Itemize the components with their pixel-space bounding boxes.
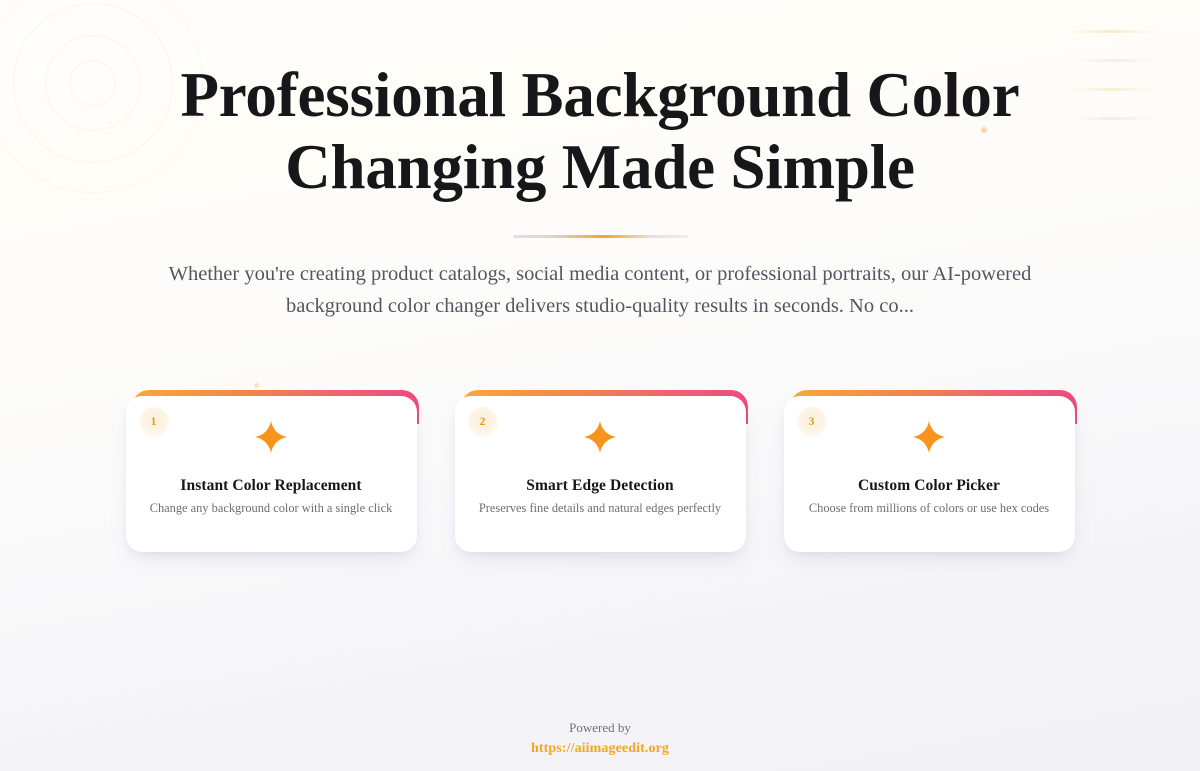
- card-surface: 3 Custom Color Picker Choose from millio…: [784, 396, 1075, 552]
- page-subtitle: Whether you're creating product catalogs…: [120, 258, 1080, 323]
- card-title: Instant Color Replacement: [126, 477, 417, 495]
- card-description: Choose from millions of colors or use he…: [798, 500, 1061, 517]
- powered-by-link[interactable]: https://aiimageedit.org: [531, 741, 669, 757]
- card-description: Preserves fine details and natural edges…: [469, 500, 732, 517]
- title-divider: [513, 235, 688, 238]
- footer: Powered by https://aiimageedit.org: [0, 718, 1200, 758]
- hero-page: Professional Background Color Changing M…: [0, 0, 1200, 771]
- sparkle-icon: [126, 420, 417, 454]
- card-title: Smart Edge Detection: [455, 477, 746, 495]
- feature-card[interactable]: 3 Custom Color Picker Choose from millio…: [784, 390, 1075, 552]
- powered-by-label: Powered by: [0, 718, 1200, 738]
- feature-card[interactable]: 1 Instant Color Replacement Change any b…: [126, 390, 417, 552]
- card-surface: 2 Smart Edge Detection Preserves fine de…: [455, 396, 746, 552]
- card-title: Custom Color Picker: [784, 477, 1075, 495]
- feature-card-list: 1 Instant Color Replacement Change any b…: [126, 390, 1075, 552]
- page-title: Professional Background Color Changing M…: [150, 60, 1050, 204]
- card-surface: 1 Instant Color Replacement Change any b…: [126, 396, 417, 552]
- sparkle-icon: [784, 420, 1075, 454]
- card-description: Change any background color with a singl…: [140, 500, 403, 517]
- sparkle-icon: [455, 420, 746, 454]
- feature-card[interactable]: 2 Smart Edge Detection Preserves fine de…: [455, 390, 746, 552]
